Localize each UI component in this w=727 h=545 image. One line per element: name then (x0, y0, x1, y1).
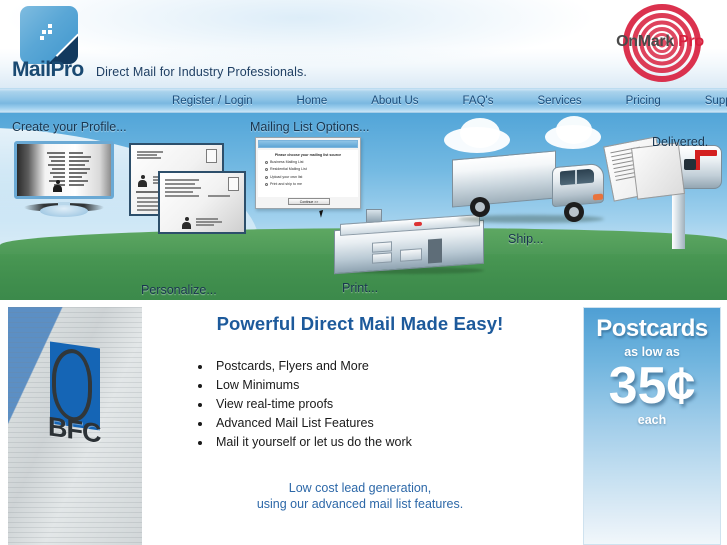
promo-unit: each (584, 413, 720, 427)
monitor-screen (14, 141, 114, 199)
main-navigation: Register / Login Home About Us FAQ's Ser… (0, 88, 727, 113)
onmark-name-red: Pro (674, 33, 704, 50)
subnote-text: Low cost lead generation, using our adva… (150, 480, 570, 512)
subnote-line-2: using our advanced mail list features. (150, 496, 570, 512)
mailpro-wordmark: MailPro (12, 58, 98, 82)
hero-label-ship: Ship... (508, 232, 543, 246)
person-silhouette-icon (182, 217, 191, 228)
mailpro-logo[interactable]: MailPro (12, 6, 92, 84)
feature-list: Postcards, Flyers and More Low Minimums … (212, 357, 570, 452)
main-content: BFC Powerful Direct Mail Made Easy! Post… (0, 300, 727, 545)
computer-monitor-illustration (14, 141, 114, 216)
list-item: Postcards, Flyers and More (212, 357, 570, 376)
dialog-option-label: Print and ship to me (270, 182, 302, 187)
radio-icon[interactable] (265, 183, 268, 186)
logo-dots-icon (40, 24, 58, 42)
content-column: Powerful Direct Mail Made Easy! Postcard… (150, 300, 570, 512)
list-item: Advanced Mail List Features (212, 414, 570, 433)
nav-item-support[interactable]: Support (683, 89, 727, 114)
nav-item-faqs[interactable]: FAQ's (441, 89, 516, 114)
list-item: View real-time proofs (212, 395, 570, 414)
continue-button[interactable]: Continue >> (288, 198, 330, 205)
press-indicator-light (414, 222, 422, 227)
dialog-option-upload[interactable]: Upload your own list (261, 175, 355, 180)
onmark-wordmark: OnMark Pro (601, 33, 719, 51)
page-title: Powerful Direct Mail Made Easy! (150, 313, 570, 335)
hero-label-print: Print... (342, 281, 378, 295)
truck-wheel (564, 202, 584, 222)
stamp-icon (228, 177, 239, 191)
nav-item-register-login[interactable]: Register / Login (150, 89, 275, 114)
stamp-icon (206, 149, 217, 163)
mailbox-flag (695, 150, 717, 156)
truck-wheel (470, 197, 490, 217)
mailbox-post (672, 187, 685, 249)
cloud-icon (460, 118, 500, 148)
press-panel (372, 252, 392, 263)
dialog-titlebar (258, 140, 358, 148)
radio-icon[interactable] (265, 168, 268, 171)
hero-label-create-profile: Create your Profile... (12, 120, 127, 134)
dialog-option-label: Business Mailing List (270, 160, 304, 165)
promo-title: Postcards (584, 315, 720, 343)
delivered-mail-piece (631, 142, 685, 199)
site-header: MailPro Direct Mail for Industry Profess… (0, 0, 727, 88)
mailbox-opening (684, 159, 696, 170)
mailpro-mark-icon (20, 6, 78, 64)
dialog-option-print-ship[interactable]: Print and ship to me (261, 182, 355, 187)
page-root: MailPro Direct Mail for Industry Profess… (0, 0, 727, 545)
dialog-option-residential[interactable]: Residential Mailing List (261, 167, 355, 172)
dialog-option-label: Upload your own list (270, 175, 302, 180)
person-silhouette-icon (138, 175, 147, 186)
nav-item-pricing[interactable]: Pricing (604, 89, 683, 114)
hero-label-personalize: Personalize... (141, 283, 217, 297)
dialog-body: Please choose your mailing list source B… (258, 150, 358, 197)
postcard-illustration (158, 171, 246, 234)
truck-window-divider (575, 170, 577, 184)
nav-item-home[interactable]: Home (275, 89, 350, 114)
person-silhouette-icon (53, 180, 62, 191)
cloud-icon (556, 116, 592, 144)
press-slot (428, 239, 442, 264)
hero-label-mailing-options: Mailing List Options... (250, 120, 370, 134)
promo-price: 35¢ (584, 357, 720, 415)
hero-banner: Please choose your mailing list source B… (0, 113, 727, 300)
list-item: Mail it yourself or let us do the work (212, 433, 570, 452)
onmark-pro-logo[interactable]: OnMark Pro (601, 2, 719, 84)
radio-icon[interactable] (265, 176, 268, 179)
dialog-option-label: Residential Mailing List (270, 167, 307, 172)
bfc-building-photo: BFC (8, 307, 142, 545)
press-panel (400, 248, 422, 262)
dialog-option-business[interactable]: Business Mailing List (261, 160, 355, 165)
postcards-promo-box[interactable]: Postcards as low as 35¢ each (583, 307, 721, 545)
monitor-base (40, 205, 88, 217)
delivery-truck-illustration (452, 149, 612, 235)
nav-item-about-us[interactable]: About Us (349, 89, 440, 114)
site-tagline: Direct Mail for Industry Professionals. (96, 65, 307, 79)
subnote-line-1: Low cost lead generation, (150, 480, 570, 496)
radio-icon[interactable] (265, 161, 268, 164)
list-item: Low Minimums (212, 376, 570, 395)
dialog-footer: Continue >> (256, 197, 360, 208)
hero-label-delivered: Delivered. (652, 135, 708, 149)
truck-cargo-box (452, 150, 556, 207)
press-panel (372, 241, 392, 252)
onmark-name-dark: OnMark (616, 33, 674, 50)
nav-item-services[interactable]: Services (516, 89, 604, 114)
dialog-prompt: Please choose your mailing list source (261, 152, 355, 158)
mailbox-illustration (600, 139, 726, 259)
mailing-list-dialog[interactable]: Please choose your mailing list source B… (255, 137, 361, 209)
truck-window (560, 169, 594, 186)
